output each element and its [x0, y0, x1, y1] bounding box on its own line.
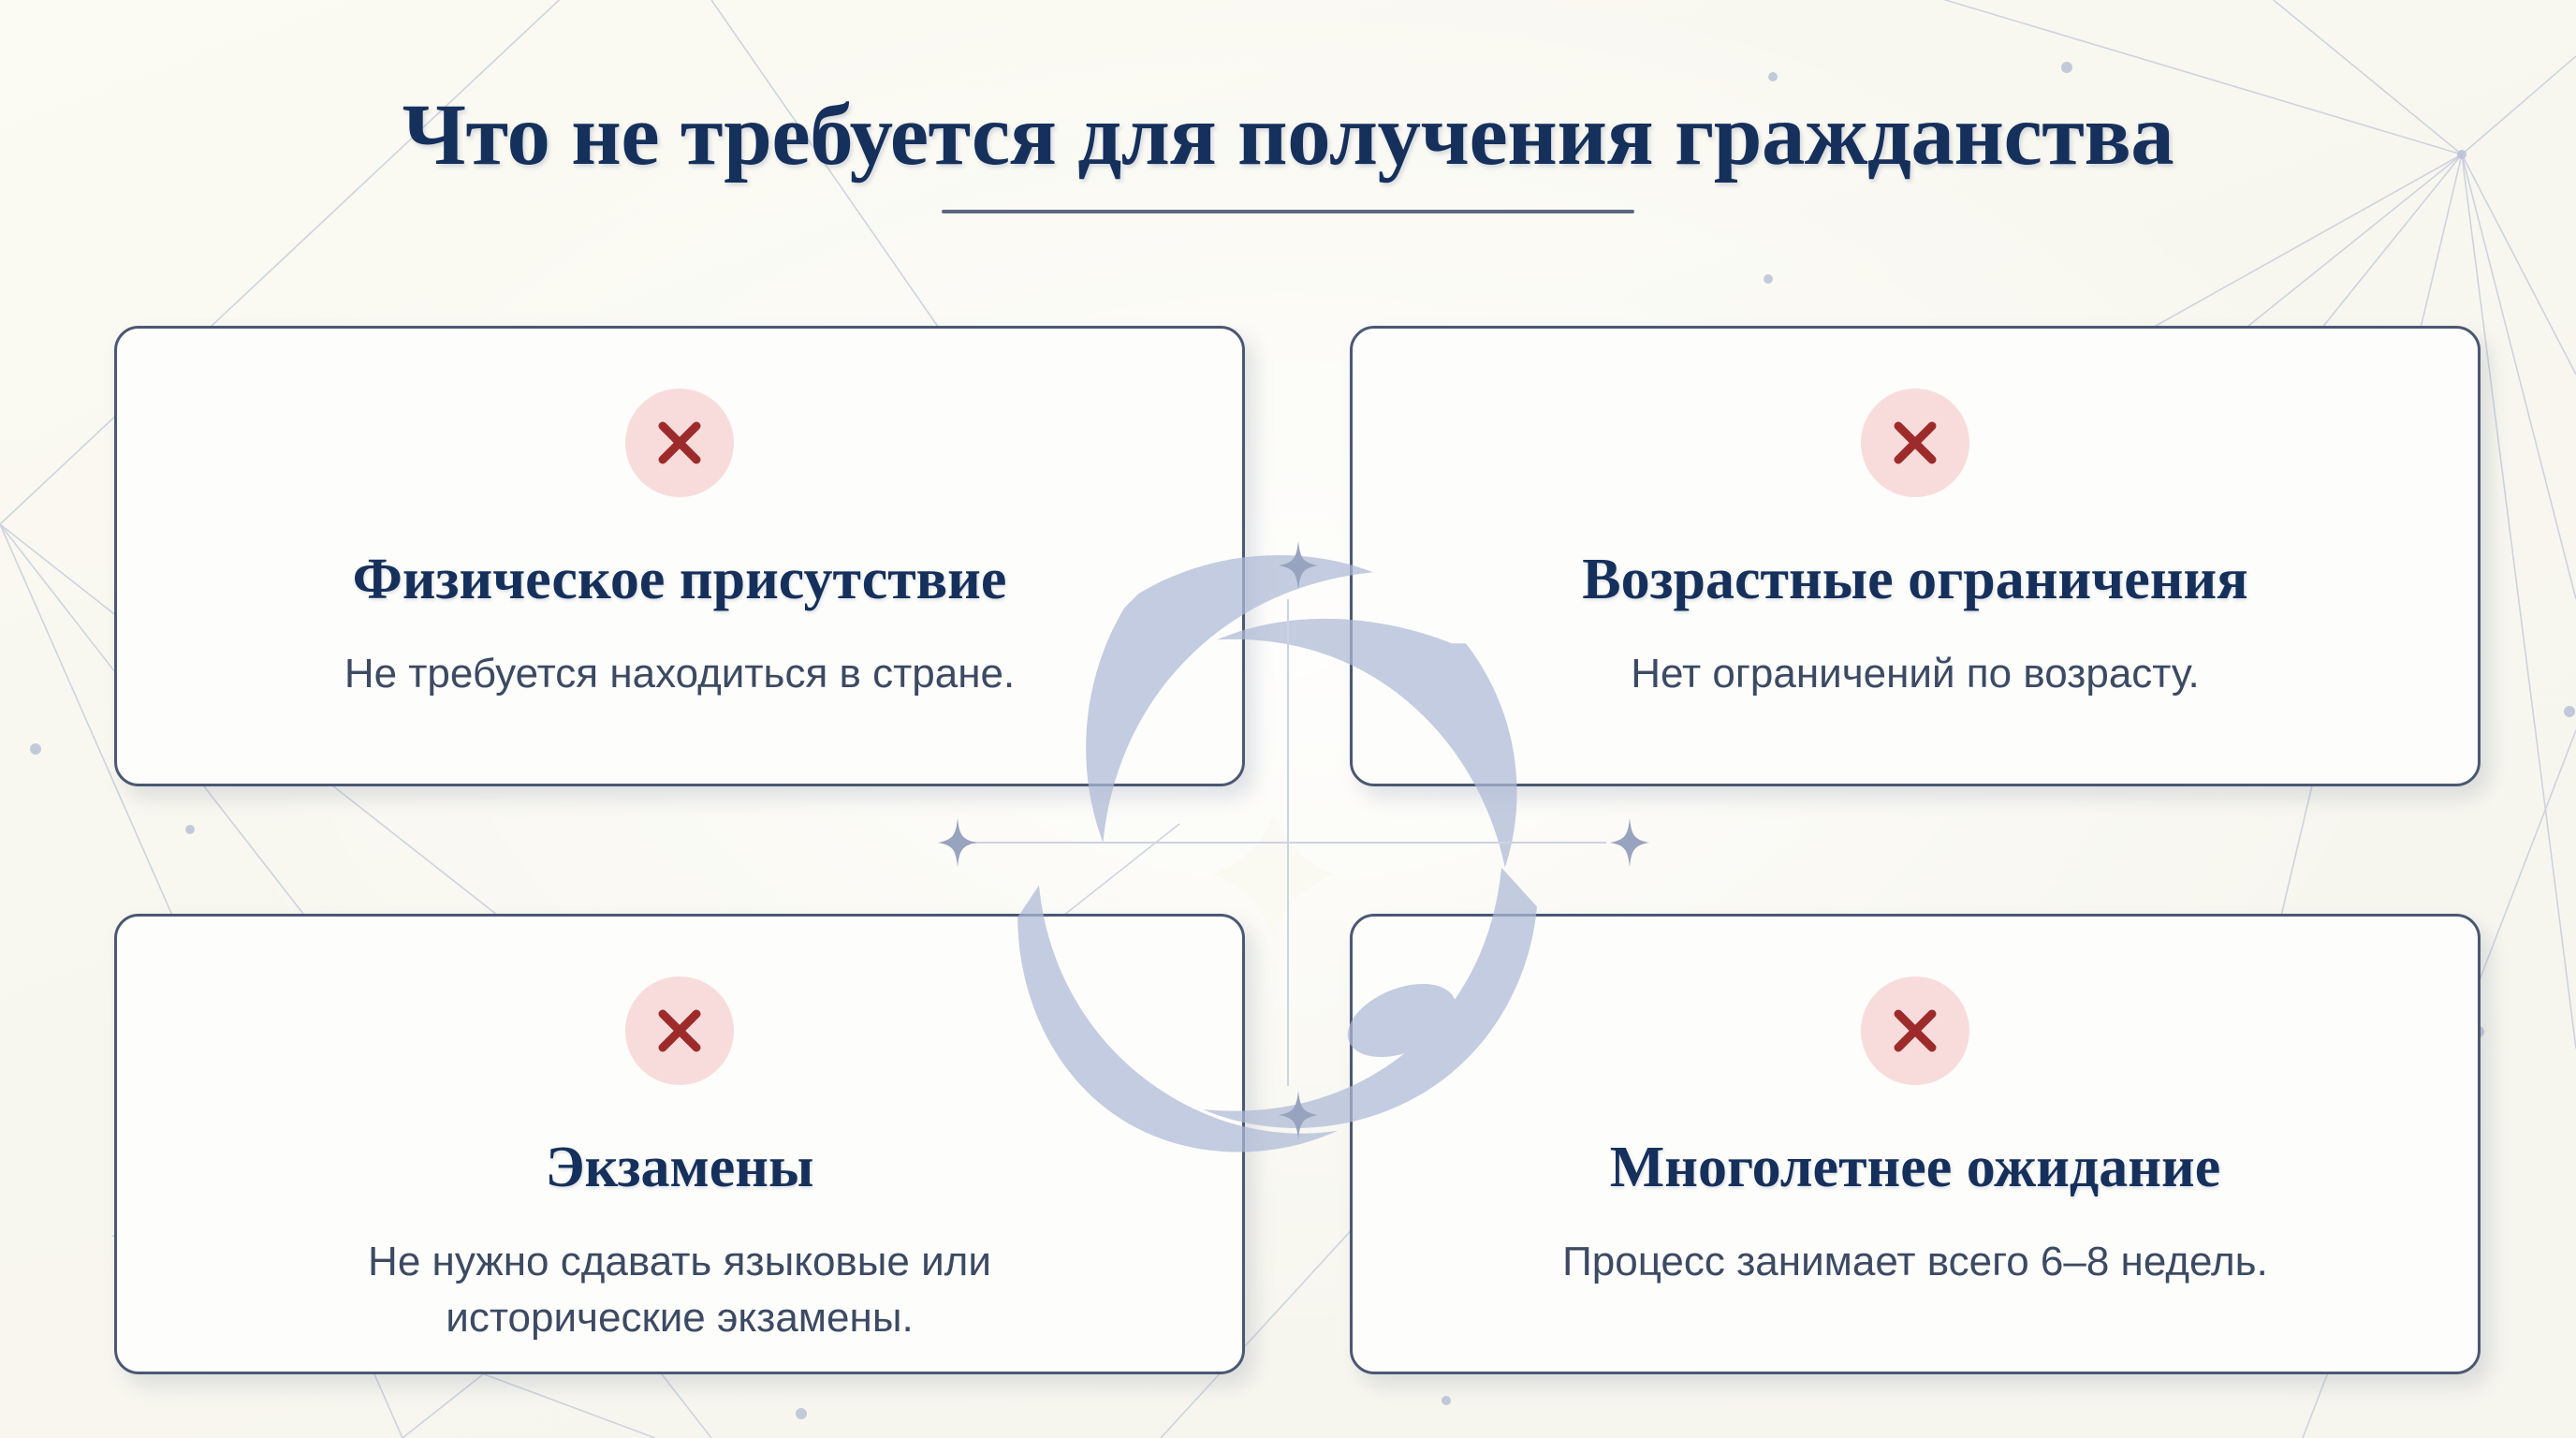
card-physical-presence[interactable]: Физическое присутствие Не требуется нахо… [114, 326, 1245, 786]
cross-mark-icon [1861, 389, 1969, 497]
card-description: Процесс занимает всего 6–8 недель. [1497, 1234, 2334, 1289]
card-age-limits[interactable]: Возрастные ограничения Нет ограничений п… [1350, 326, 2481, 786]
card-title: Физическое присутствие [315, 548, 1045, 612]
card-long-wait[interactable]: Многолетнее ожидание Процесс занимает вс… [1350, 914, 2481, 1374]
header-block: Что не требуется для получения гражданст… [0, 90, 2576, 213]
cross-mark-icon [625, 976, 734, 1085]
title-divider [942, 210, 1634, 213]
cross-mark-icon [1861, 976, 1969, 1085]
slide-root: Что не требуется для получения гражданст… [0, 0, 2576, 1438]
requirements-card-grid: Физическое присутствие Не требуется нахо… [114, 326, 2481, 1374]
card-description: Не нужно сдавать языковые или историческ… [117, 1234, 1242, 1345]
card-title: Возрастные ограничения [1544, 548, 2285, 612]
card-title: Экзамены [508, 1136, 852, 1200]
page-title: Что не требуется для получения гражданст… [0, 90, 2576, 182]
card-exams[interactable]: Экзамены Не нужно сдавать языковые или и… [114, 914, 1245, 1374]
card-description: Не требуется находиться в стране. [279, 646, 1080, 701]
card-description: Нет ограничений по возрасту. [1565, 646, 2265, 701]
cross-mark-icon [625, 389, 734, 497]
card-title: Многолетнее ожидание [1573, 1136, 2259, 1200]
